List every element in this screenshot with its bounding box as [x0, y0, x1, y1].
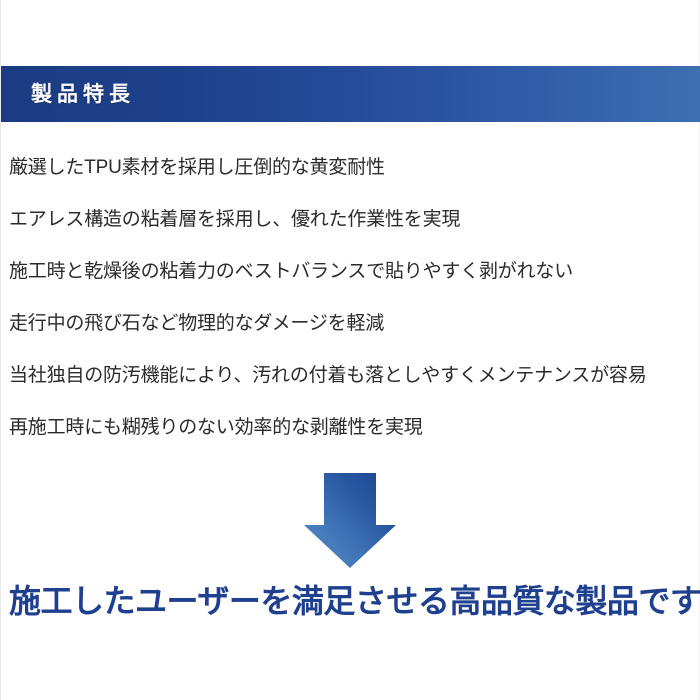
section-title: 製品特長 — [31, 84, 135, 105]
conclusion-headline: 施工したユーザーを満足させる高品質な製品です — [9, 578, 699, 624]
down-arrow-icon — [304, 473, 396, 568]
product-features-panel: 製品特長 厳選したTPU素材を採用し圧倒的な黄変耐性 エアレス構造の粘着層を採用… — [0, 0, 700, 700]
feature-line: 施工時と乾燥後の粘着力のベストバランスで貼りやすく剥がれない — [9, 246, 699, 298]
section-header-bar: 製品特長 — [1, 66, 700, 122]
feature-line: 再施工時にも糊残りのない効率的な剥離性を実現 — [9, 402, 699, 454]
feature-list: 厳選したTPU素材を採用し圧倒的な黄変耐性 エアレス構造の粘着層を採用し、優れた… — [9, 142, 699, 454]
down-arrow-graphic — [304, 473, 396, 568]
feature-line: エアレス構造の粘着層を採用し、優れた作業性を実現 — [9, 194, 699, 246]
feature-line: 走行中の飛び石など物理的なダメージを軽減 — [9, 298, 699, 350]
feature-line: 当社独自の防汚機能により、汚れの付着も落としやすくメンテナンスが容易 — [9, 350, 699, 402]
feature-line: 厳選したTPU素材を採用し圧倒的な黄変耐性 — [9, 142, 699, 194]
